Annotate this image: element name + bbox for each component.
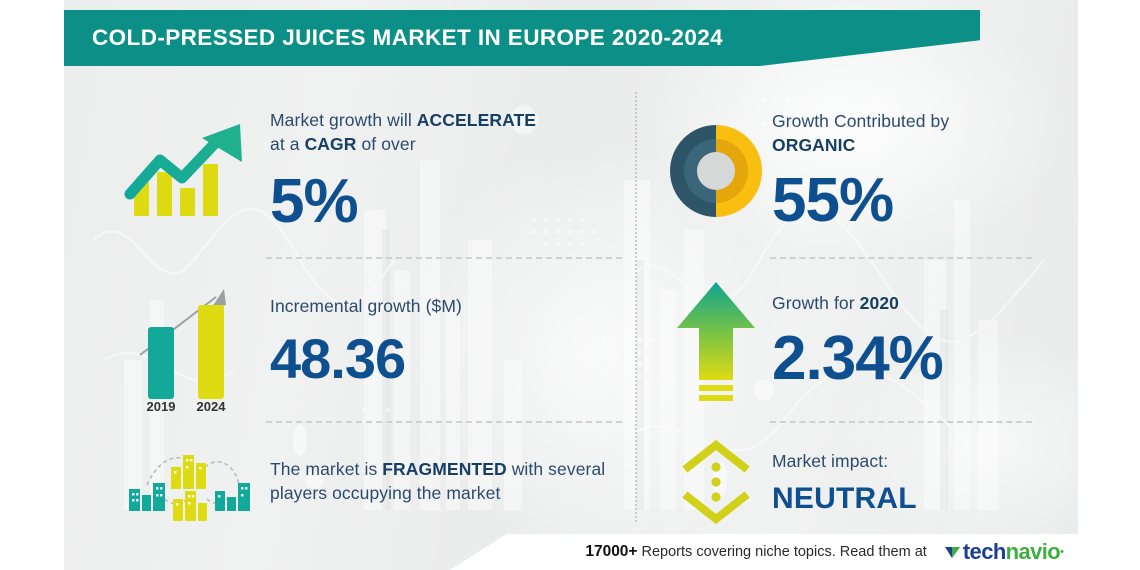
stat-cell-fragmented: The market is FRAGMENTED with several pl… <box>110 432 630 532</box>
organic-value: 55% <box>772 170 1080 232</box>
growth2020-text-block: Growth for 2020 2.34% <box>772 292 1080 390</box>
incremental-value: 48.36 <box>270 331 630 387</box>
impact-caption: Market impact: <box>772 450 1080 474</box>
report-count: 17000+ <box>585 543 637 560</box>
logo-trademark-dot: • <box>1060 546 1064 558</box>
fragmented-cities-icon <box>110 439 260 525</box>
page-title: COLD-PRESSED JUICES MARKET IN EUROPE 202… <box>92 25 723 51</box>
infographic-canvas: COLD-PRESSED JUICES MARKET IN EUROPE 202… <box>0 0 1140 570</box>
stat-cell-cagr: Market growth will ACCELERATE at a CAGR … <box>110 96 630 246</box>
fragmented-text-block: The market is FRAGMENTED with several pl… <box>260 458 630 505</box>
stat-cell-incremental-growth: 2019 2024 Incremental growth ($M) 48.36 <box>110 266 630 416</box>
cagr-caption: Market growth will ACCELERATE at a CAGR … <box>270 109 630 156</box>
donut-chart-icon <box>660 121 772 221</box>
technavio-logo[interactable]: technavio• <box>943 541 1064 563</box>
incremental-caption: Incremental growth ($M) <box>270 295 630 319</box>
logo-text-navio: navio <box>1006 541 1060 563</box>
column-divider <box>635 92 637 522</box>
stat-cell-growth-2020: Growth for 2020 2.34% <box>660 266 1080 416</box>
left-divider-1 <box>266 257 622 259</box>
left-divider-2 <box>266 421 622 423</box>
cagr-text-block: Market growth will ACCELERATE at a CAGR … <box>260 109 630 232</box>
bar-chart-growth-icon: 2019 2024 <box>110 271 260 411</box>
stat-cell-market-impact: Market impact: NEUTRAL <box>660 432 1080 532</box>
organic-caption: Growth Contributed by ORGANIC <box>772 110 1080 157</box>
footer-text: 17000+ Reports covering niche topics. Re… <box>585 543 927 561</box>
stat-cell-organic: Growth Contributed by ORGANIC 55% <box>660 96 1080 246</box>
neutral-chevrons-icon <box>660 439 772 525</box>
footer-tagline: Reports covering niche topics. Read them… <box>637 544 926 560</box>
growth2020-value: 2.34% <box>772 328 1080 390</box>
right-divider-2 <box>770 421 1032 423</box>
incremental-text-block: Incremental growth ($M) 48.36 <box>260 295 630 387</box>
logo-text-tech: tech <box>963 541 1006 563</box>
cagr-value: 5% <box>270 171 630 233</box>
impact-value: NEUTRAL <box>772 484 1080 514</box>
organic-text-block: Growth Contributed by ORGANIC 55% <box>772 110 1080 231</box>
impact-text-block: Market impact: NEUTRAL <box>772 450 1080 514</box>
footer-band: 17000+ Reports covering niche topics. Re… <box>450 534 1078 570</box>
growth-arrow-chart-icon <box>110 116 260 226</box>
bar-label-2019: 2019 <box>147 399 176 411</box>
right-divider-1 <box>770 257 1032 259</box>
fragmented-caption: The market is FRAGMENTED with several pl… <box>270 458 630 505</box>
bar-label-2024: 2024 <box>197 399 227 411</box>
up-arrow-icon <box>660 276 772 406</box>
technavio-mark-icon <box>943 542 963 562</box>
growth2020-caption: Growth for 2020 <box>772 292 1080 316</box>
